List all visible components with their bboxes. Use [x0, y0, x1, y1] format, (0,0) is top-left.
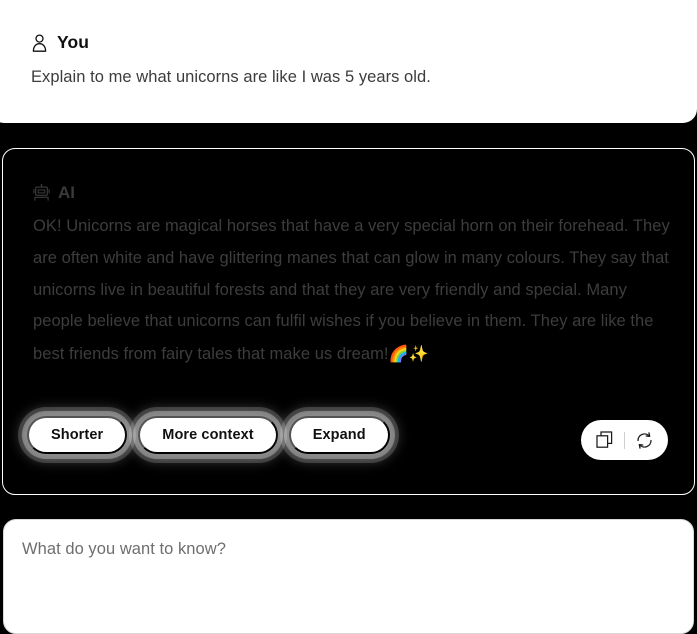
user-icon	[31, 34, 48, 52]
composer-input[interactable]: What do you want to know?	[3, 519, 694, 634]
regenerate-button[interactable]	[625, 420, 664, 460]
ai-message-emoji: 🌈✨	[389, 344, 429, 363]
regenerate-icon	[635, 431, 654, 450]
copy-icon	[596, 431, 613, 449]
ai-message-text: OK! Unicorns are magical horses that hav…	[33, 217, 670, 363]
ai-message-header: AI	[33, 184, 75, 201]
ai-message-card: AI OK! Unicorns are magical horses that …	[2, 148, 695, 495]
copy-button[interactable]	[585, 420, 624, 460]
ai-message-body: OK! Unicorns are magical horses that hav…	[33, 211, 673, 371]
user-message-header: You	[31, 34, 89, 52]
composer-placeholder: What do you want to know?	[22, 540, 226, 559]
suggestion-pill-expand[interactable]: Expand	[289, 416, 390, 454]
suggestion-pill-row: Shorter More context Expand	[27, 416, 390, 454]
suggestion-pill-more-context[interactable]: More context	[138, 416, 277, 454]
robot-icon	[33, 184, 50, 201]
ai-message-author: AI	[58, 184, 75, 201]
user-message-card: You Explain to me what unicorns are like…	[0, 0, 697, 123]
user-message-author: You	[57, 34, 89, 52]
message-action-bar	[581, 420, 668, 460]
user-message-text: Explain to me what unicorns are like I w…	[31, 66, 431, 88]
suggestion-pill-shorter[interactable]: Shorter	[27, 416, 127, 454]
